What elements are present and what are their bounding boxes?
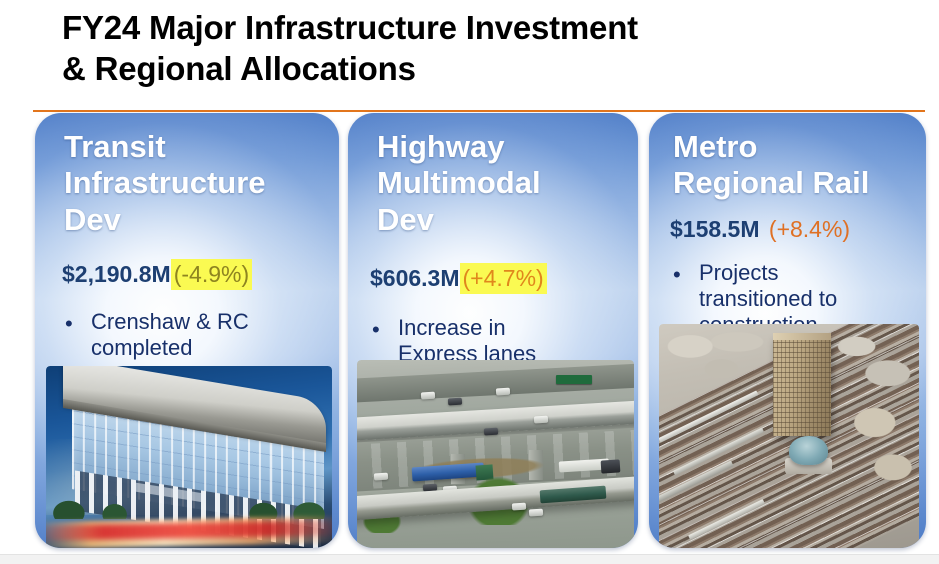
metric-delta-badge: (+4.7%): [460, 263, 547, 294]
accent-divider-rule: [33, 110, 925, 112]
bullet-marker-icon: •: [673, 262, 681, 288]
street-trees: [46, 490, 332, 519]
vehicle: [484, 427, 499, 435]
card-bullet-list: • Crenshaw & RC completed: [91, 309, 325, 361]
metric-value: $158.5M: [670, 216, 760, 242]
card-photo-transit-station: [46, 366, 332, 548]
card-metro-regional-rail[interactable]: Metro Regional Rail $158.5M (+8.4%) • Pr…: [649, 113, 926, 548]
card-heading: Highway Multimodal Dev: [377, 129, 628, 238]
vehicle: [529, 508, 544, 516]
glass-dome: [789, 436, 828, 465]
metric-delta-badge: (-4.9%): [171, 259, 252, 290]
card-metric-line: $2,190.8M(-4.9%): [62, 261, 331, 287]
tower-window-grid: [773, 337, 830, 436]
card-highway-multimodal-dev[interactable]: Highway Multimodal Dev $606.3M(+4.7%) • …: [348, 113, 638, 548]
metric-value: $2,190.8M: [62, 261, 171, 287]
card-metric-line: $606.3M(+4.7%): [370, 265, 630, 291]
cards-row: Transit Infrastructure Dev $2,190.8M(-4.…: [0, 113, 939, 549]
card-inner: Metro Regional Rail $158.5M (+8.4%) • Pr…: [649, 113, 926, 548]
card-inner: Transit Infrastructure Dev $2,190.8M(-4.…: [35, 113, 339, 548]
vehicle: [495, 388, 510, 396]
card-inner: Highway Multimodal Dev $606.3M(+4.7%) • …: [348, 113, 638, 548]
photo-artwork: [659, 324, 919, 548]
freeway-sign: [556, 375, 592, 384]
card-heading: Metro Regional Rail: [673, 129, 916, 202]
bullet-marker-icon: •: [65, 311, 73, 337]
metric-value: $606.3M: [370, 265, 460, 291]
card-photo-freeway-interchange: [357, 360, 634, 548]
metric-delta-badge: (+8.4%): [766, 214, 853, 245]
card-photo-rail-yard: [659, 324, 919, 548]
card-heading: Transit Infrastructure Dev: [64, 129, 329, 238]
photo-artwork: [357, 360, 634, 548]
card-metric-line: $158.5M (+8.4%): [670, 216, 918, 242]
card-transit-infrastructure-dev[interactable]: Transit Infrastructure Dev $2,190.8M(-4.…: [35, 113, 339, 548]
vehicle: [421, 392, 436, 400]
truck-cab-dark: [600, 459, 620, 473]
vehicle: [512, 502, 527, 510]
bullet-marker-icon: •: [372, 317, 380, 343]
tower-crown: [773, 333, 830, 340]
page-title: FY24 Major Infrastructure Investment & R…: [62, 8, 882, 90]
vehicle: [448, 397, 463, 405]
photo-artwork: [46, 366, 332, 548]
bullet-text: Crenshaw & RC completed: [91, 309, 325, 361]
vehicle: [373, 472, 388, 480]
